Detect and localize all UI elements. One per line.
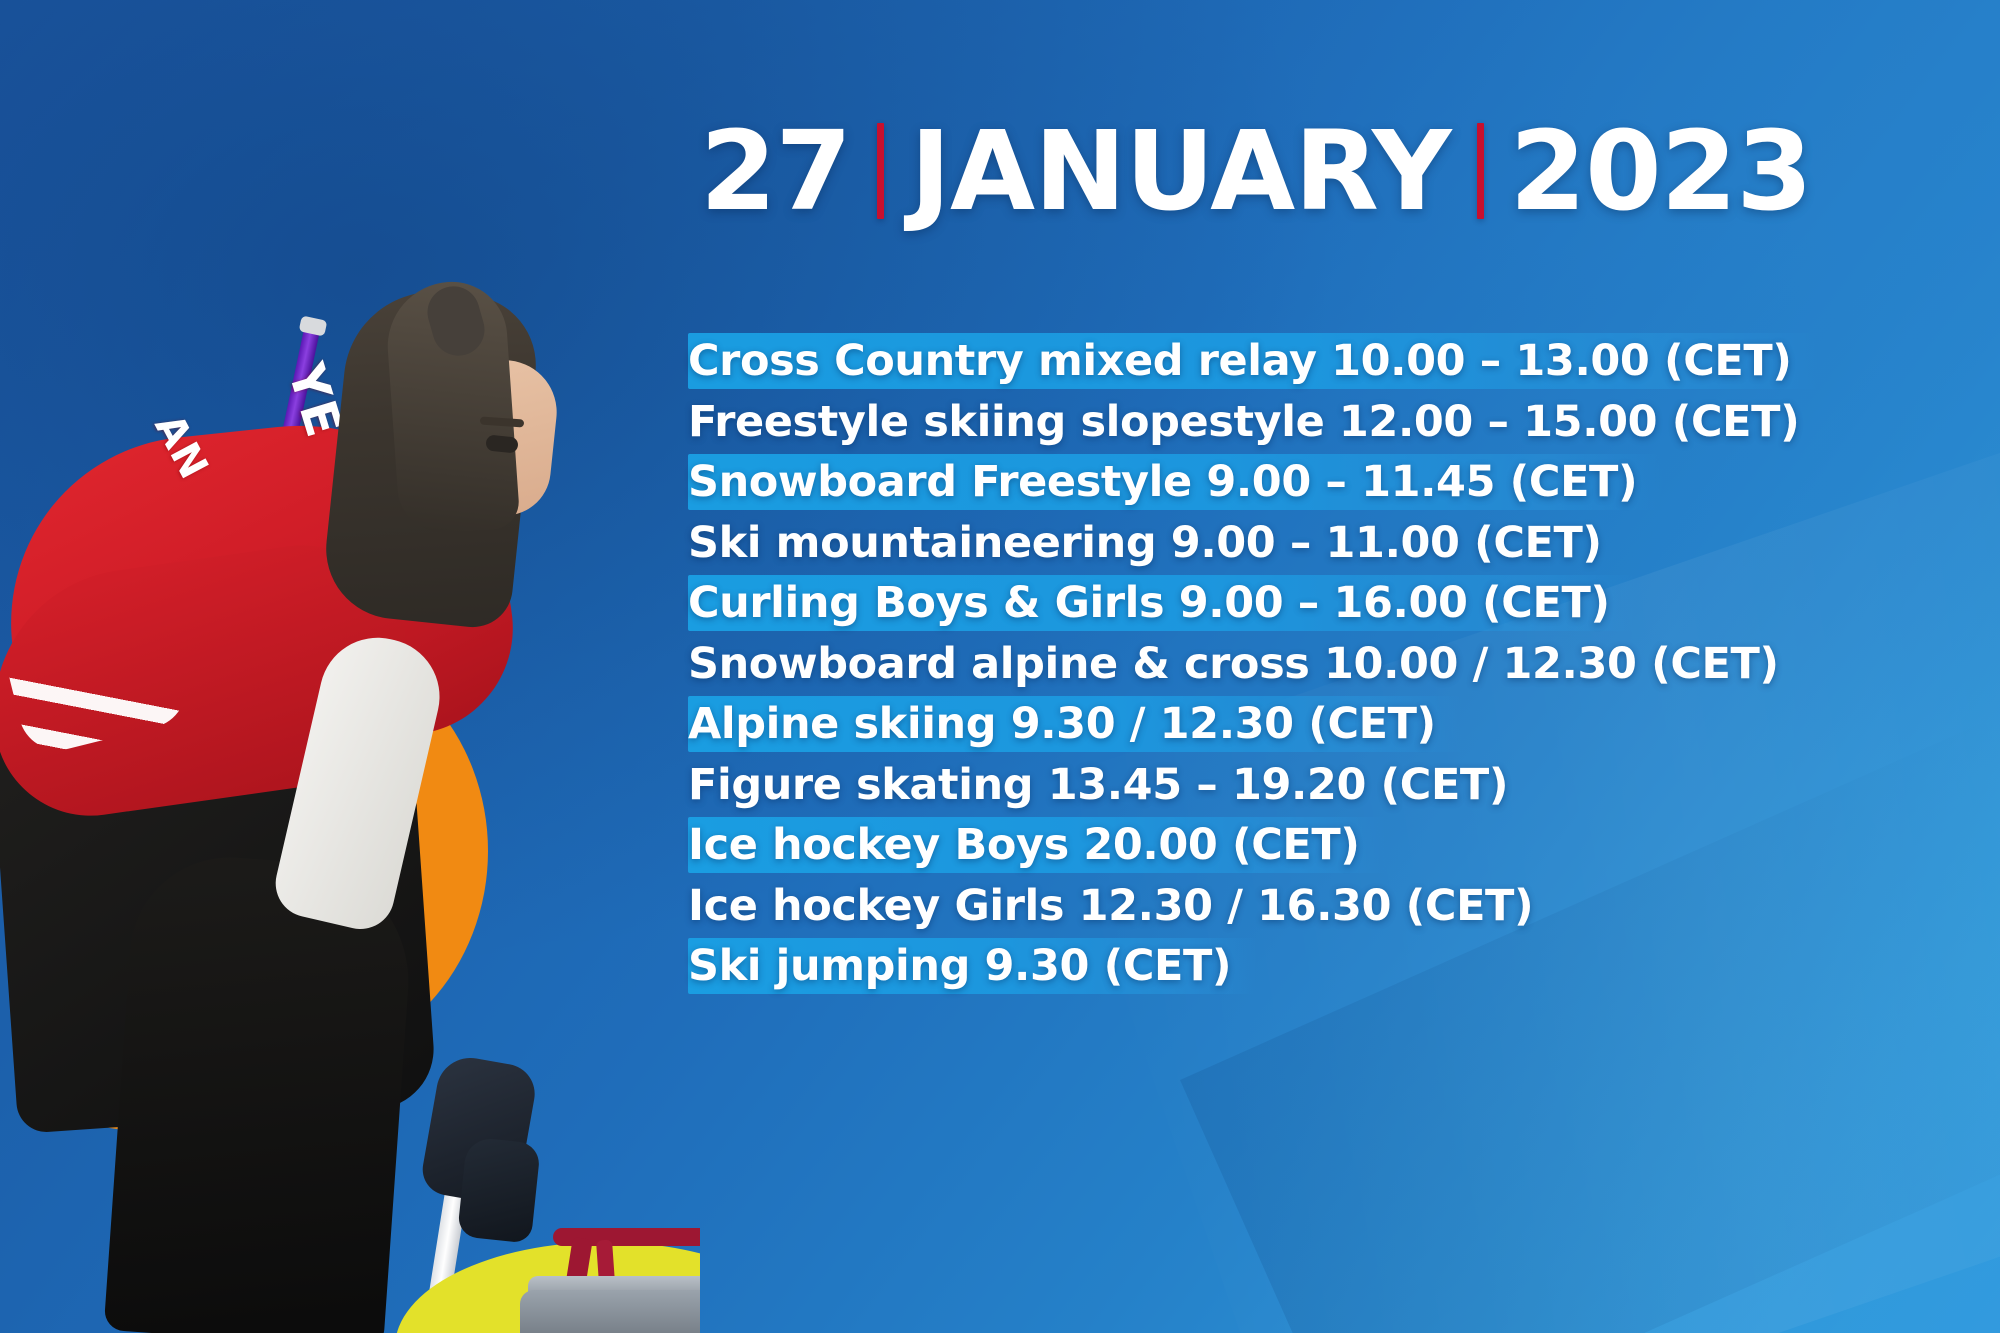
schedule-row-label: Snowboard Freestyle 9.00 – 11.45 (CET) [688,457,1637,507]
title-separator-right-icon [1477,123,1484,219]
schedule-row: Freestyle skiing slopestyle 12.00 – 15.0… [688,392,1828,453]
schedule-row-label: Cross Country mixed relay 10.00 – 13.00 … [688,336,1792,386]
schedule-row-label: Ice hockey Girls 12.30 / 16.30 (CET) [688,881,1533,931]
title-day: 27 [700,116,851,226]
schedule-list: Cross Country mixed relay 10.00 – 13.00 … [688,331,1828,997]
schedule-row: Ski jumping 9.30 (CET) [688,936,1828,997]
schedule-row-label: Freestyle skiing slopestyle 12.00 – 15.0… [688,397,1799,447]
schedule-row-label: Curling Boys & Girls 9.00 – 16.00 (CET) [688,578,1610,628]
schedule-row: Cross Country mixed relay 10.00 – 13.00 … [688,331,1828,392]
schedule-row: Curling Boys & Girls 9.00 – 16.00 (CET) [688,573,1828,634]
schedule-row-label: Figure skating 13.45 – 19.20 (CET) [688,760,1508,810]
schedule-row: Ice hockey Boys 20.00 (CET) [688,815,1828,876]
schedule-row-label: Ski mountaineering 9.00 – 11.00 (CET) [688,518,1602,568]
schedule-row-label: Snowboard alpine & cross 10.00 / 12.30 (… [688,639,1779,689]
schedule-row: Ice hockey Girls 12.30 / 16.30 (CET) [688,876,1828,937]
schedule-row: Figure skating 13.45 – 19.20 (CET) [688,755,1828,816]
title-separator-left-icon [877,123,884,219]
curling-stone-body [520,1290,700,1333]
schedule-row-label: Ice hockey Boys 20.00 (CET) [688,820,1360,870]
page-title: 27 JANUARY 2023 [700,116,1812,226]
title-month: JANUARY [910,116,1451,226]
schedule-row: Alpine skiing 9.30 / 12.30 (CET) [688,694,1828,755]
schedule-row: Snowboard alpine & cross 10.00 / 12.30 (… [688,634,1828,695]
poster-root: YE AN 27 JANUARY 2023 Cross Country mixe… [0,0,2000,1333]
title-year: 2023 [1510,116,1812,226]
schedule-row-label: Alpine skiing 9.30 / 12.30 (CET) [688,699,1436,749]
schedule-row: Ski mountaineering 9.00 – 11.00 (CET) [688,513,1828,574]
athlete-photo: YE AN [0,0,700,1333]
schedule-row-label: Ski jumping 9.30 (CET) [688,941,1231,991]
schedule-row: Snowboard Freestyle 9.00 – 11.45 (CET) [688,452,1828,513]
athlete-glove-lower [457,1136,541,1243]
